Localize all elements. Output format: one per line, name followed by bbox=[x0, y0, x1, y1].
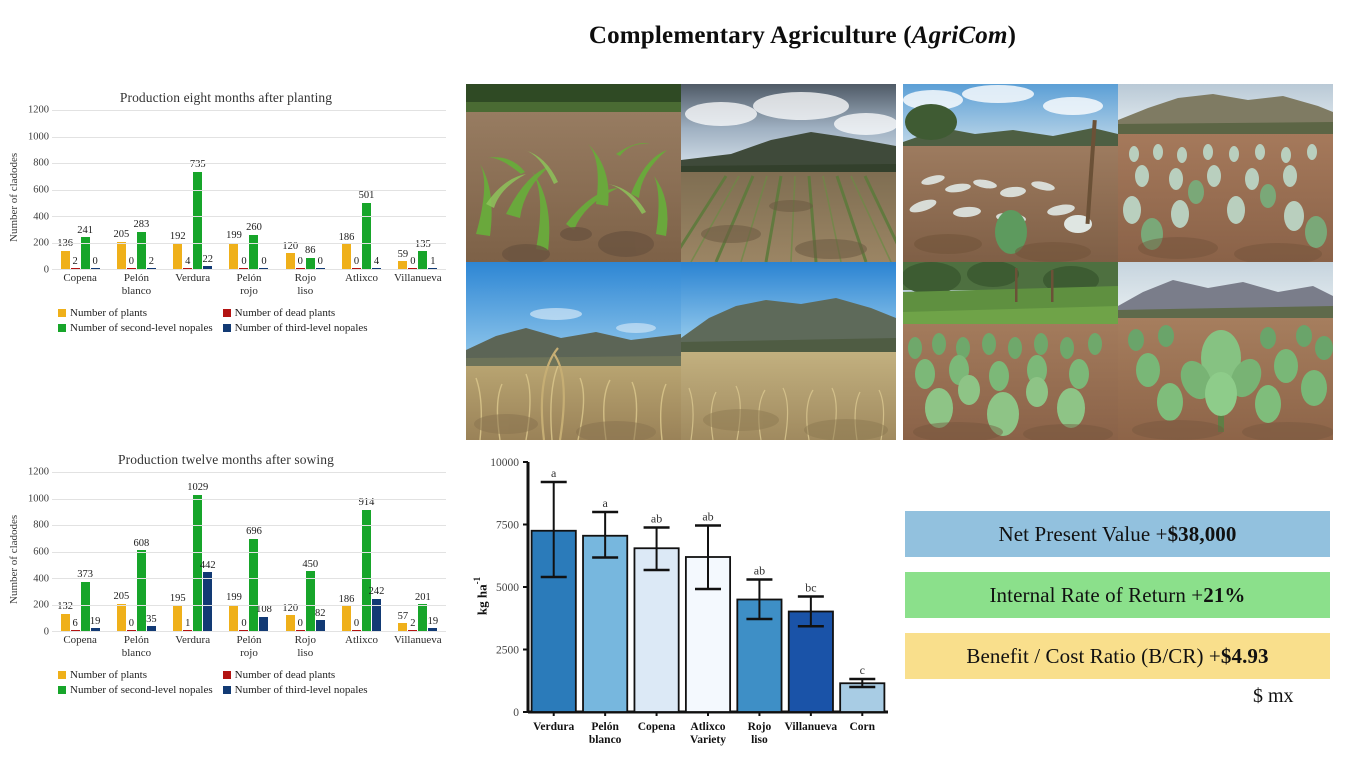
bar-value-label: 0 bbox=[354, 256, 359, 268]
legend-item: Number of second-level nopales bbox=[58, 322, 213, 334]
bar-fill bbox=[398, 261, 407, 269]
bar-value-label: 1029 bbox=[187, 482, 208, 494]
bar-value-label: 201 bbox=[415, 592, 431, 604]
bar-fill bbox=[203, 572, 212, 631]
y-tick: 600 bbox=[33, 185, 49, 196]
y-tick: 1200 bbox=[28, 467, 49, 478]
gridline bbox=[52, 578, 446, 579]
bar-number-of-plants: 120 bbox=[286, 253, 295, 269]
photo-nopal-plants-growing-green bbox=[903, 262, 1118, 440]
y-tick: 1000 bbox=[28, 493, 49, 504]
bar-fill bbox=[286, 253, 295, 269]
y-axis-label: Number of cladodes bbox=[6, 110, 22, 270]
bar-fill bbox=[306, 258, 315, 269]
x-axis-category: Atlixco bbox=[690, 721, 725, 733]
bar-fill bbox=[173, 244, 182, 269]
x-axis-category: Verdura bbox=[533, 721, 574, 733]
y-axis-label: kg ha-1 bbox=[472, 577, 490, 615]
photo-nopal-cladodes-planted-field bbox=[1118, 84, 1333, 262]
y-tick-label: 5000 bbox=[496, 582, 519, 594]
photo-grid-maize bbox=[466, 84, 896, 440]
x-axis-category: Verdura bbox=[165, 634, 221, 659]
legend-item: Number of dead plants bbox=[223, 669, 368, 681]
bar-fill bbox=[229, 605, 238, 631]
x-axis-category: Pelónrojo bbox=[221, 272, 277, 297]
bar-number-of-plants: 186 bbox=[342, 244, 351, 269]
result-label: Internal Rate of Return + bbox=[989, 583, 1203, 608]
y-tick-label: 2500 bbox=[496, 645, 519, 657]
bar-fill bbox=[61, 251, 70, 269]
bar-value-label: 260 bbox=[246, 222, 262, 234]
chart-legend: Number of plantsNumber of dead plantsNum… bbox=[58, 669, 446, 696]
bar-number-of-second-level-nopales: 450 bbox=[306, 571, 315, 631]
bar-fill bbox=[306, 571, 315, 631]
y-tick: 200 bbox=[33, 600, 49, 611]
bar-value-label: 195 bbox=[170, 593, 186, 605]
bar-value-label: 4 bbox=[185, 256, 190, 268]
bar-value-label: 59 bbox=[398, 249, 409, 261]
bar-number-of-second-level-nopales: 373 bbox=[81, 582, 90, 631]
bar-fill bbox=[398, 623, 407, 631]
y-tick: 600 bbox=[33, 547, 49, 558]
legend-swatch bbox=[58, 671, 66, 679]
y-tick: 400 bbox=[33, 573, 49, 584]
legend-label: Number of third-level nopales bbox=[235, 322, 368, 334]
bar-value-label: 0 bbox=[93, 256, 98, 268]
bar-number-of-plants: 195 bbox=[173, 605, 182, 631]
result-value: $38,000 bbox=[1168, 522, 1237, 547]
legend-label: Number of second-level nopales bbox=[70, 684, 213, 696]
y-tick: 800 bbox=[33, 520, 49, 531]
gridline bbox=[52, 243, 446, 244]
x-axis-category: Copena bbox=[52, 272, 108, 297]
bar-value-label: 0 bbox=[410, 256, 415, 268]
bar-fill bbox=[61, 614, 70, 631]
photo-maize-seedlings-closeup bbox=[466, 84, 681, 262]
bar-number-of-third-level-nopales: 442 bbox=[203, 572, 212, 631]
bar-fill bbox=[117, 242, 126, 269]
bar-fill bbox=[173, 605, 182, 631]
bar-number-of-plants: 132 bbox=[61, 614, 70, 631]
bar-fill bbox=[418, 251, 427, 269]
bar-value-label: 132 bbox=[57, 601, 73, 613]
y-axis-ticks: 020040060080010001200 bbox=[22, 472, 52, 632]
bar-number-of-plants: 199 bbox=[229, 243, 238, 269]
result-value: 21% bbox=[1203, 583, 1245, 608]
bar-number-of-second-level-nopales: 86 bbox=[306, 258, 315, 269]
bar-fill bbox=[418, 604, 427, 631]
y-tick-label: 0 bbox=[513, 707, 519, 719]
bar-value-label: 241 bbox=[77, 225, 93, 237]
bar-fill bbox=[137, 550, 146, 631]
bar-value-label: 1 bbox=[185, 618, 190, 630]
legend-swatch bbox=[223, 324, 231, 332]
legend-swatch bbox=[223, 671, 231, 679]
bar-number-of-third-level-nopales: 108 bbox=[259, 617, 268, 631]
bar-number-of-plants: 120 bbox=[286, 615, 295, 631]
x-axis-category: Rojoliso bbox=[277, 272, 333, 297]
currency-note: $ mx bbox=[1253, 685, 1294, 708]
x-axis-category: Villanueva bbox=[785, 721, 838, 733]
x-axis-category: Atlixco bbox=[333, 272, 389, 297]
bar-value-label: 0 bbox=[129, 618, 134, 630]
result-label: Benefit / Cost Ratio (B/CR) + bbox=[966, 644, 1221, 669]
significance-annotation: a bbox=[602, 496, 608, 510]
bar-fill bbox=[117, 604, 126, 631]
bar-number-of-second-level-nopales: 283 bbox=[137, 232, 146, 269]
page-title: Complementary Agriculture (AgriCom) bbox=[0, 22, 1365, 50]
legend-swatch bbox=[58, 309, 66, 317]
bar-fill bbox=[249, 235, 258, 269]
significance-annotation: c bbox=[860, 663, 865, 677]
bar-value-label: 192 bbox=[170, 231, 186, 243]
x-axis-categories: CopenaPelónblancoVerduraPelónrojoRojolis… bbox=[52, 634, 446, 659]
bar-value-label: 199 bbox=[226, 592, 242, 604]
yield-plot-svg: 025005000750010000aVerduraaPelónblancoab… bbox=[470, 450, 900, 767]
bar-number-of-plants: 205 bbox=[117, 242, 126, 269]
bar-number-of-second-level-nopales: 260 bbox=[249, 235, 258, 269]
plot-area: 1362241020502832192473522199026001200860… bbox=[52, 110, 446, 270]
legend-item: Number of third-level nopales bbox=[223, 684, 368, 696]
gridline bbox=[52, 472, 446, 473]
gridline bbox=[52, 631, 446, 632]
bar-value-label: 442 bbox=[200, 560, 216, 572]
gridline bbox=[52, 137, 446, 138]
page-title-main: Complementary Agriculture ( bbox=[589, 22, 912, 49]
bar-number-of-second-level-nopales: 135 bbox=[418, 251, 427, 269]
bar-value-label: 608 bbox=[134, 538, 150, 550]
bar-fill bbox=[229, 243, 238, 269]
chart-title: Production twelve months after sowing bbox=[6, 452, 446, 468]
significance-annotation: ab bbox=[754, 564, 765, 578]
bar-number-of-second-level-nopales: 914 bbox=[362, 510, 371, 631]
chart-production-twelve-months: Production twelve months after sowing Nu… bbox=[6, 452, 446, 696]
photo-dry-field-mountain-range bbox=[681, 262, 896, 440]
significance-annotation: a bbox=[551, 466, 557, 480]
x-axis-categories: CopenaPelónblancoVerduraPelónrojoRojolis… bbox=[52, 272, 446, 297]
legend-swatch bbox=[58, 686, 66, 694]
bar-value-label: 2 bbox=[149, 256, 154, 268]
gridline bbox=[52, 216, 446, 217]
page-title-end: ) bbox=[1008, 22, 1017, 49]
y-tick: 1200 bbox=[28, 105, 49, 116]
x-axis-category: Villanueva bbox=[390, 634, 446, 659]
x-axis-category: Pelónrojo bbox=[221, 634, 277, 659]
bar-value-label: 450 bbox=[302, 559, 318, 571]
bar-value-label: 0 bbox=[354, 618, 359, 630]
legend-item: Number of plants bbox=[58, 307, 213, 319]
bar-fill bbox=[342, 244, 351, 269]
bar-value-label: 199 bbox=[226, 230, 242, 242]
x-axis-category: Pelónblanco bbox=[108, 272, 164, 297]
legend-item: Number of plants bbox=[58, 669, 213, 681]
legend-label: Number of third-level nopales bbox=[235, 684, 368, 696]
bar-value-label: 283 bbox=[134, 219, 150, 231]
gridline bbox=[52, 190, 446, 191]
bar-value-label: 0 bbox=[298, 618, 303, 630]
legend-swatch bbox=[58, 324, 66, 332]
legend-item: Number of second-level nopales bbox=[58, 684, 213, 696]
result-box-npv: Net Present Value + $38,000 bbox=[905, 511, 1330, 557]
result-label: Net Present Value + bbox=[998, 522, 1167, 547]
y-tick: 0 bbox=[44, 627, 49, 638]
bar-value-label: 0 bbox=[241, 618, 246, 630]
y-tick: 800 bbox=[33, 158, 49, 169]
legend-swatch bbox=[223, 309, 231, 317]
bar-value-label: 136 bbox=[57, 238, 73, 250]
bar-number-of-plants: 199 bbox=[229, 605, 238, 631]
significance-annotation: bc bbox=[805, 581, 816, 595]
y-tick-label: 7500 bbox=[496, 520, 519, 532]
significance-annotation: ab bbox=[651, 512, 662, 526]
x-axis-category: Pelónblanco bbox=[589, 721, 622, 746]
bar-fill bbox=[362, 510, 371, 631]
y-axis-ticks: 020040060080010001200 bbox=[22, 110, 52, 270]
bar-number-of-second-level-nopales: 501 bbox=[362, 203, 371, 269]
bar-fill bbox=[137, 232, 146, 269]
chart-title: Production eight months after planting bbox=[6, 90, 446, 106]
gridline bbox=[52, 269, 446, 270]
bar-value-label: 501 bbox=[359, 190, 375, 202]
result-box-irr: Internal Rate of Return + 21% bbox=[905, 572, 1330, 618]
legend-label: Number of dead plants bbox=[235, 307, 336, 319]
chart-yield-by-variety: kg ha-1 025005000750010000aVerduraaPelón… bbox=[470, 450, 900, 767]
gridline bbox=[52, 163, 446, 164]
bar-value-label: 86 bbox=[305, 245, 316, 257]
x-axis-label: Variety bbox=[690, 734, 726, 746]
bar-number-of-second-level-nopales: 201 bbox=[418, 604, 427, 631]
x-axis-category: Villanueva bbox=[390, 272, 446, 297]
x-axis-category: Rojoliso bbox=[748, 721, 772, 746]
bar-fill bbox=[249, 539, 258, 631]
bar-value-label: 2 bbox=[73, 256, 78, 268]
y-tick: 1000 bbox=[28, 131, 49, 142]
x-axis-category: Pelónblanco bbox=[108, 634, 164, 659]
bar-value-label: 22 bbox=[202, 254, 213, 266]
bar-value-label: 242 bbox=[369, 586, 385, 598]
result-box-bcr: Benefit / Cost Ratio (B/CR) + $4.93 bbox=[905, 633, 1330, 679]
bar-value-label: 135 bbox=[415, 239, 431, 251]
bar-fill bbox=[81, 582, 90, 631]
page-title-italic: AgriCom bbox=[912, 22, 1008, 49]
plot-area: 1326373192050608351951102944219906961081… bbox=[52, 472, 446, 632]
bar-pelón-blanco bbox=[583, 536, 627, 712]
bar-value-label: 6 bbox=[73, 618, 78, 630]
bar-number-of-plants: 205 bbox=[117, 604, 126, 631]
bar-value-label: 0 bbox=[261, 256, 266, 268]
legend-label: Number of plants bbox=[70, 307, 147, 319]
legend-label: Number of dead plants bbox=[235, 669, 336, 681]
bar-fill bbox=[342, 606, 351, 631]
significance-annotation: ab bbox=[702, 510, 713, 524]
bar-number-of-second-level-nopales: 608 bbox=[137, 550, 146, 631]
photo-dry-stubble-field-hills bbox=[466, 262, 681, 440]
bar-fill bbox=[193, 172, 202, 269]
legend-item: Number of dead plants bbox=[223, 307, 368, 319]
x-axis-category: Atlixco bbox=[333, 634, 389, 659]
bar-value-label: 4 bbox=[374, 256, 379, 268]
bar-fill bbox=[259, 617, 268, 631]
legend-label: Number of plants bbox=[70, 669, 147, 681]
bar-fill bbox=[362, 203, 371, 269]
bar-value-label: 205 bbox=[114, 591, 130, 603]
bar-number-of-plants: 59 bbox=[398, 261, 407, 269]
bar-value-label: 0 bbox=[318, 256, 323, 268]
x-axis-category: Copena bbox=[638, 721, 676, 733]
bar-number-of-plants: 192 bbox=[173, 244, 182, 269]
legend-label: Number of second-level nopales bbox=[70, 322, 213, 334]
x-axis-category: Copena bbox=[52, 634, 108, 659]
gridline bbox=[52, 525, 446, 526]
y-tick: 0 bbox=[44, 265, 49, 276]
bar-number-of-plants: 186 bbox=[342, 606, 351, 631]
photo-maize-field-rows-hills bbox=[681, 84, 896, 262]
bar-value-label: 35 bbox=[146, 614, 157, 626]
gridline bbox=[52, 605, 446, 606]
bar-value-label: 0 bbox=[298, 256, 303, 268]
x-axis-category: Rojoliso bbox=[277, 634, 333, 659]
chart-legend: Number of plantsNumber of dead plantsNum… bbox=[58, 307, 446, 334]
result-value: $4.93 bbox=[1221, 644, 1269, 669]
bar-value-label: 696 bbox=[246, 526, 262, 538]
chart-production-eight-months: Production eight months after planting N… bbox=[6, 90, 446, 334]
bar-number-of-third-level-nopales: 82 bbox=[316, 620, 325, 631]
bar-value-label: 108 bbox=[256, 604, 272, 616]
y-tick: 400 bbox=[33, 211, 49, 222]
bar-fill bbox=[286, 615, 295, 631]
photo-grid-nopal bbox=[903, 84, 1333, 440]
bar-value-label: 205 bbox=[114, 229, 130, 241]
bar-value-label: 2 bbox=[410, 618, 415, 630]
bar-value-label: 0 bbox=[129, 256, 134, 268]
bar-value-label: 735 bbox=[190, 159, 206, 171]
y-tick-label: 10000 bbox=[490, 457, 519, 469]
bar-value-label: 19 bbox=[90, 616, 101, 628]
bar-fill bbox=[316, 620, 325, 631]
bar-copena bbox=[634, 548, 678, 712]
photo-mature-nopal-plants-field bbox=[1118, 262, 1333, 440]
legend-item: Number of third-level nopales bbox=[223, 322, 368, 334]
gridline bbox=[52, 110, 446, 111]
bar-value-label: 57 bbox=[398, 611, 409, 623]
legend-swatch bbox=[223, 686, 231, 694]
photo-nopal-cladodes-planting-rows bbox=[903, 84, 1118, 262]
gridline bbox=[52, 499, 446, 500]
bar-value-label: 0 bbox=[241, 256, 246, 268]
y-tick: 200 bbox=[33, 238, 49, 249]
x-axis-category: Verdura bbox=[165, 272, 221, 297]
bar-number-of-second-level-nopales: 696 bbox=[249, 539, 258, 631]
bar-number-of-plants: 136 bbox=[61, 251, 70, 269]
x-axis-category: Corn bbox=[850, 721, 876, 733]
gridline bbox=[52, 552, 446, 553]
y-axis-label: Number of cladodes bbox=[6, 472, 22, 632]
bar-value-label: 19 bbox=[428, 616, 439, 628]
bar-value-label: 82 bbox=[315, 608, 326, 620]
bar-value-label: 1 bbox=[430, 256, 435, 268]
bar-number-of-second-level-nopales: 735 bbox=[193, 172, 202, 269]
bar-number-of-plants: 57 bbox=[398, 623, 407, 631]
